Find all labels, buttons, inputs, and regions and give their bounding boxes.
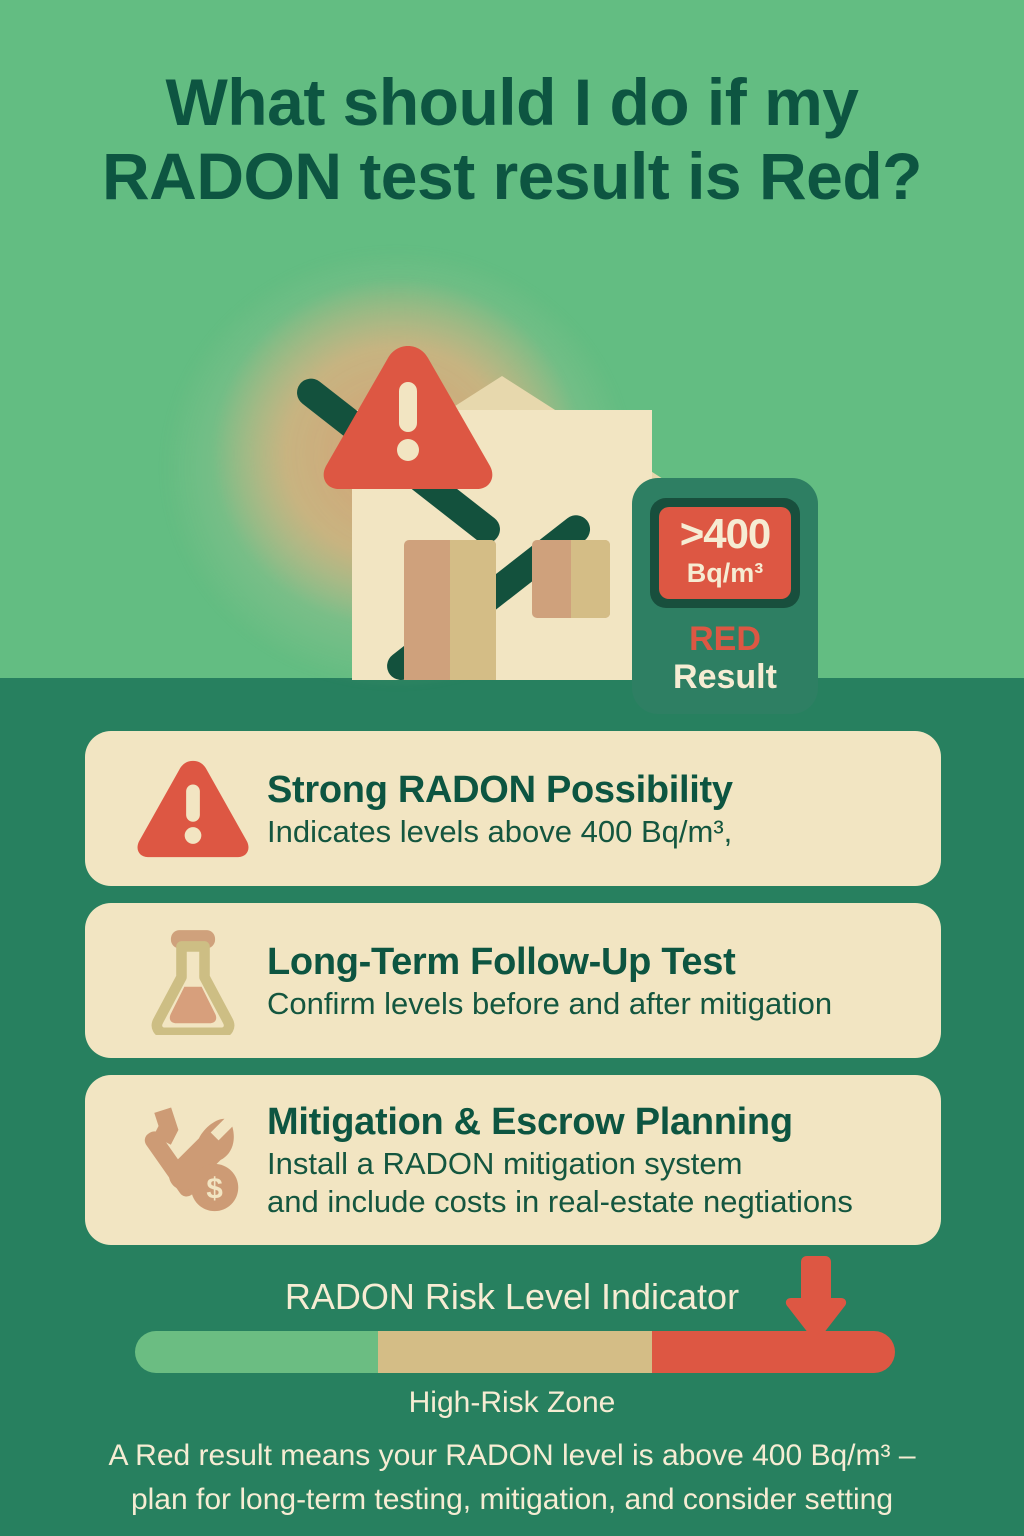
house-door-highlight [450, 540, 496, 680]
info-card-mitigation-escrow-planning: $ Mitigation & Escrow Planning Install a… [85, 1075, 941, 1245]
house-door [404, 540, 496, 680]
device-screen-frame: >400 Bq/m³ [650, 498, 800, 608]
radon-result-device: >400 Bq/m³ RED Result [632, 478, 818, 714]
card-title: Mitigation & Escrow Planning [267, 1099, 917, 1145]
wrench-dollar-icon: $ [133, 1100, 253, 1220]
card-text-block: Strong RADON Possibility Indicates level… [267, 767, 917, 851]
device-status-suffix: Result [632, 658, 818, 696]
page-title-line-1: What should I do if my [166, 65, 859, 139]
footnote-line-2: plan for long-term testing, mitigation, … [60, 1478, 964, 1522]
risk-level-bar[interactable] [135, 1331, 895, 1373]
flask-icon [133, 921, 253, 1041]
card-subtitle-line: Install a RADON mitigation system [267, 1145, 917, 1183]
device-status-badge: RED [632, 620, 818, 658]
card-subtitle-line: Indicates levels above 400 Bq/m³, [267, 813, 917, 851]
risk-segment-low [135, 1331, 378, 1373]
house-window-highlight [571, 540, 610, 618]
device-screen: >400 Bq/m³ [659, 507, 791, 599]
risk-indicator-label: RADON Risk Level Indicator [0, 1276, 1024, 1318]
warning-triangle-icon [318, 340, 498, 495]
hero-illustration [0, 230, 1024, 730]
risk-zone-label: High-Risk Zone [0, 1386, 1024, 1420]
page-title-line-2: RADON test result is Red? [0, 140, 1024, 214]
card-subtitle-line: and include costs in real-estate negtiat… [267, 1183, 917, 1221]
warning-triangle-icon [133, 749, 253, 869]
risk-segment-moderate [378, 1331, 652, 1373]
card-title: Long-Term Follow-Up Test [267, 939, 917, 985]
card-text-block: Mitigation & Escrow Planning Install a R… [267, 1099, 917, 1221]
footnote-line-1: A Red result means your RADON level is a… [60, 1434, 964, 1478]
device-unit: Bq/m³ [659, 558, 791, 588]
footnote: A Red result means your RADON level is a… [60, 1434, 964, 1522]
risk-segment-high [652, 1331, 895, 1373]
card-subtitle-line: Confirm levels before and after mitigati… [267, 985, 917, 1023]
card-title: Strong RADON Possibility [267, 767, 917, 813]
info-card-strong-radon-possibility: Strong RADON Possibility Indicates level… [85, 731, 941, 886]
device-value: >400 [659, 507, 791, 558]
house-window [532, 540, 610, 618]
info-card-long-term-follow-up-test: Long-Term Follow-Up Test Confirm levels … [85, 903, 941, 1058]
infographic-page: What should I do if my RADON test result… [0, 0, 1024, 1536]
svg-text:$: $ [206, 1172, 222, 1205]
card-text-block: Long-Term Follow-Up Test Confirm levels … [267, 939, 917, 1023]
page-title: What should I do if my RADON test result… [0, 66, 1024, 214]
